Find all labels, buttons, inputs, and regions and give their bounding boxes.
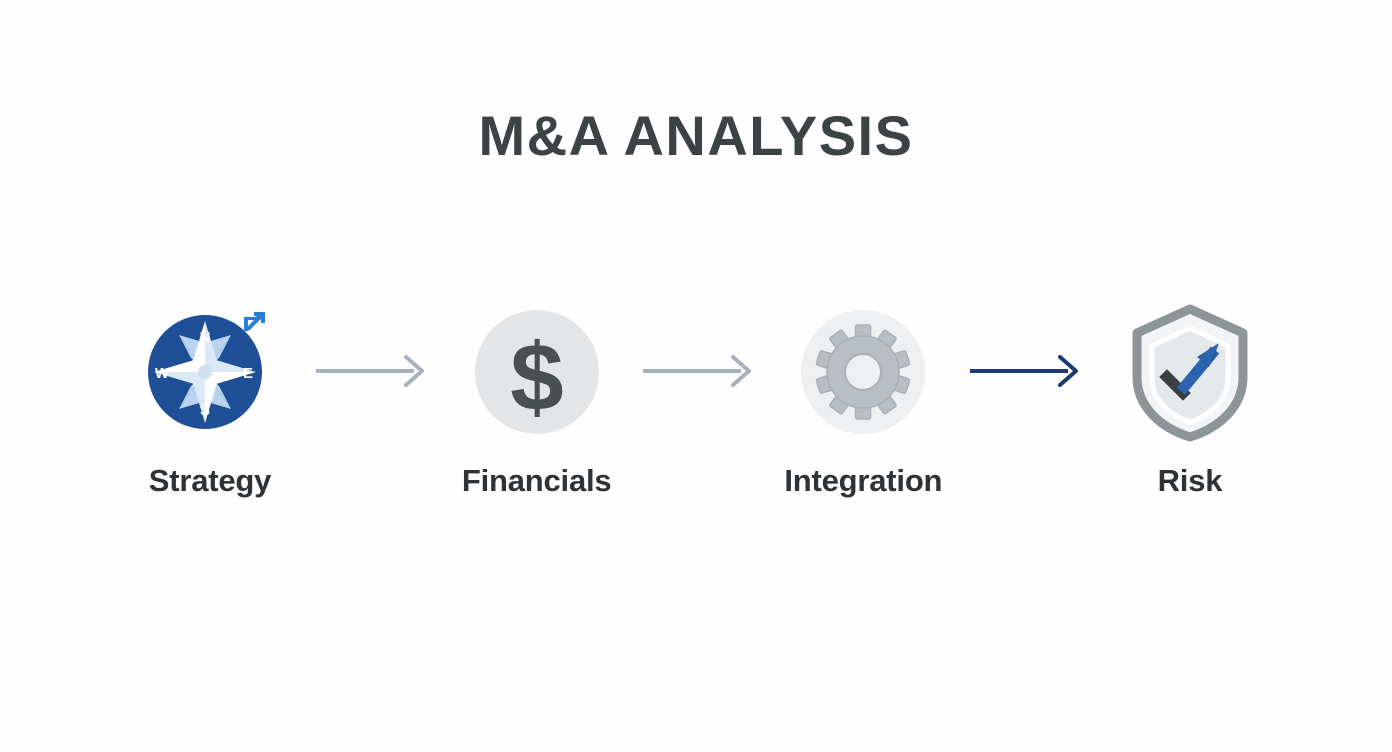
diagram-canvas: M&A ANALYSIS [0, 0, 1392, 752]
page-title: M&A ANALYSIS [0, 105, 1392, 167]
connector-arrow-3 [963, 295, 1091, 447]
dollar-icon-wrap: $ [462, 295, 612, 447]
shield-icon-wrap [1115, 295, 1265, 447]
arrow-right-icon [968, 351, 1086, 391]
compass-label-west: W [155, 365, 170, 382]
svg-text:$: $ [510, 324, 563, 431]
flow-step-strategy[interactable]: N E S W Strategy [120, 295, 300, 499]
flow-step-label-strategy: Strategy [149, 463, 271, 499]
compass-label-south: S [200, 402, 210, 419]
compass-label-east: E [243, 365, 253, 382]
connector-arrow-2 [636, 295, 764, 447]
dollar-sign-icon: $ [462, 295, 612, 447]
arrow-right-icon [314, 351, 432, 391]
flow-step-financials[interactable]: $ Financials [447, 295, 627, 499]
export-arrow-badge-icon [244, 313, 264, 331]
arrow-right-icon [641, 351, 759, 391]
shield-check-icon [1115, 295, 1265, 447]
compass-label-north: N [200, 329, 211, 346]
flow-step-integration[interactable]: Integration [773, 295, 953, 499]
flow-step-label-integration: Integration [784, 463, 942, 499]
flow-step-label-financials: Financials [462, 463, 612, 499]
gear-icon-wrap [788, 295, 938, 447]
compass-icon-wrap: N E S W [135, 295, 285, 447]
process-flow: N E S W Strategy [120, 295, 1280, 515]
compass-icon: N E S W [135, 295, 285, 447]
connector-arrow-1 [309, 295, 437, 447]
flow-step-risk[interactable]: Risk [1100, 295, 1280, 499]
flow-step-label-risk: Risk [1158, 463, 1223, 499]
gear-icon [788, 295, 938, 447]
